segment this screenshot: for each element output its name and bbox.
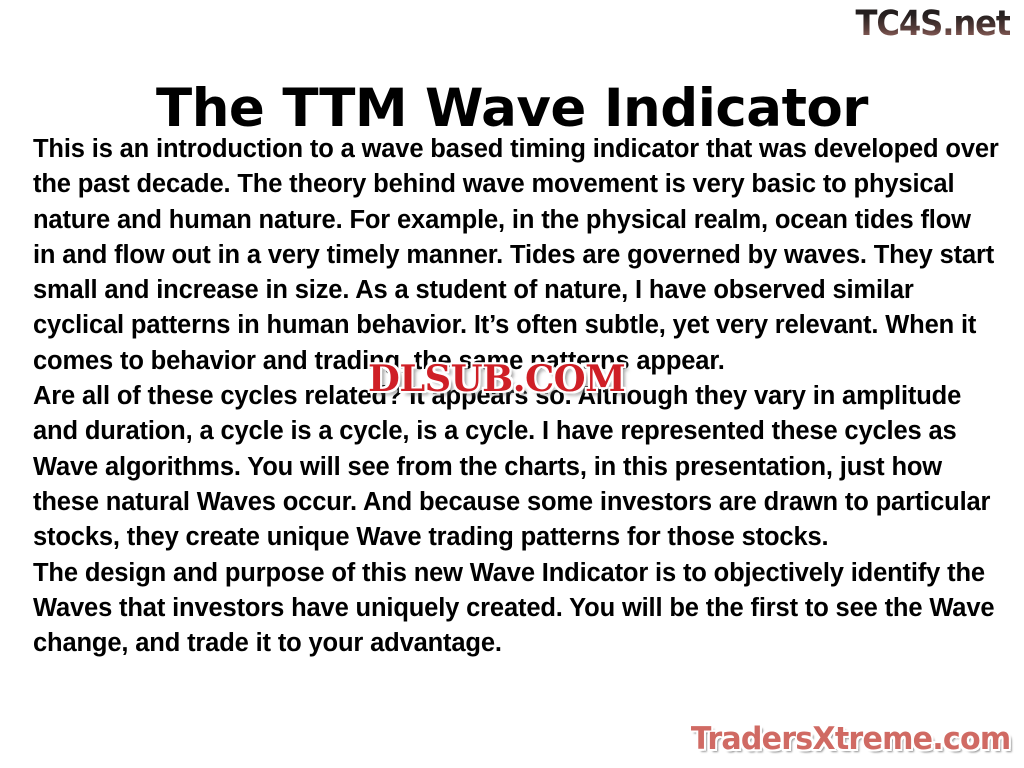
tradersxtreme-footer-logo: TradersXtreme.com	[690, 720, 1010, 758]
presentation-slide: TC4S.net The TTM Wave Indicator This is …	[0, 0, 1024, 768]
body-paragraph-1: This is an introduction to a wave based …	[33, 132, 999, 379]
body-paragraph-3: The design and purpose of this new Wave …	[33, 556, 999, 662]
page-title: The TTM Wave Indicator	[0, 78, 1024, 140]
dlsub-watermark: DLSUB.COM	[368, 358, 625, 400]
body-paragraph-2: Are all of these cycles related? It appe…	[33, 379, 999, 555]
tc4s-brand-logo: TC4S.net	[855, 2, 1010, 46]
